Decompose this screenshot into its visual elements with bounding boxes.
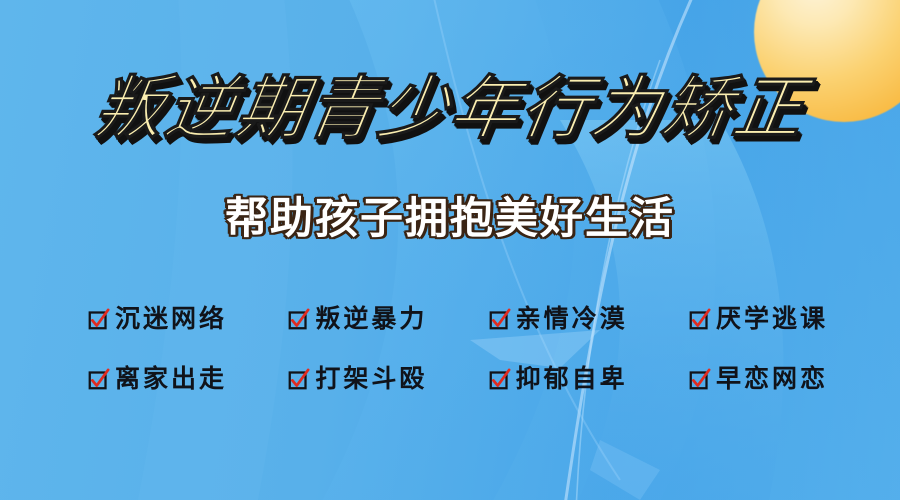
checkbox-checked-icon[interactable]: [88, 309, 109, 330]
subtitle-container: 帮助孩子拥抱美好生活: [0, 198, 900, 241]
checklist-row-2: 离家出走 打架斗殴 抑郁自卑 早恋网恋: [88, 356, 828, 402]
checkbox-checked-icon[interactable]: [288, 369, 309, 390]
page-title: 叛逆期青少年行为矫正: [90, 74, 811, 143]
checkbox-checked-icon[interactable]: [489, 369, 510, 390]
checklist-row-1: 沉迷网络 叛逆暴力 亲情冷漠 厌学逃课: [88, 296, 828, 342]
checkbox-checked-icon[interactable]: [88, 369, 109, 390]
list-item[interactable]: 离家出走: [88, 367, 227, 392]
list-item[interactable]: 沉迷网络: [88, 307, 227, 332]
list-item[interactable]: 早恋网恋: [689, 367, 828, 392]
list-item-label: 厌学逃课: [716, 307, 828, 332]
list-item-label: 抑郁自卑: [516, 367, 628, 392]
list-item-label: 早恋网恋: [716, 367, 828, 392]
checkbox-checked-icon[interactable]: [489, 309, 510, 330]
issue-checklist: 沉迷网络 叛逆暴力 亲情冷漠 厌学逃课: [88, 296, 828, 416]
list-item-label: 亲情冷漠: [516, 307, 628, 332]
title-container: 叛逆期青少年行为矫正: [0, 74, 900, 143]
list-item-label: 打架斗殴: [315, 367, 427, 392]
promo-banner: 叛逆期青少年行为矫正 帮助孩子拥抱美好生活 沉迷网络 叛逆暴力: [0, 0, 900, 500]
list-item-label: 叛逆暴力: [315, 307, 427, 332]
list-item[interactable]: 叛逆暴力: [288, 307, 427, 332]
checkbox-checked-icon[interactable]: [689, 309, 710, 330]
list-item[interactable]: 抑郁自卑: [489, 367, 628, 392]
list-item-label: 沉迷网络: [115, 307, 227, 332]
page-subtitle: 帮助孩子拥抱美好生活: [225, 198, 675, 241]
checkbox-checked-icon[interactable]: [288, 309, 309, 330]
list-item[interactable]: 亲情冷漠: [489, 307, 628, 332]
list-item-label: 离家出走: [115, 367, 227, 392]
list-item[interactable]: 打架斗殴: [288, 367, 427, 392]
list-item[interactable]: 厌学逃课: [689, 307, 828, 332]
checkbox-checked-icon[interactable]: [689, 369, 710, 390]
